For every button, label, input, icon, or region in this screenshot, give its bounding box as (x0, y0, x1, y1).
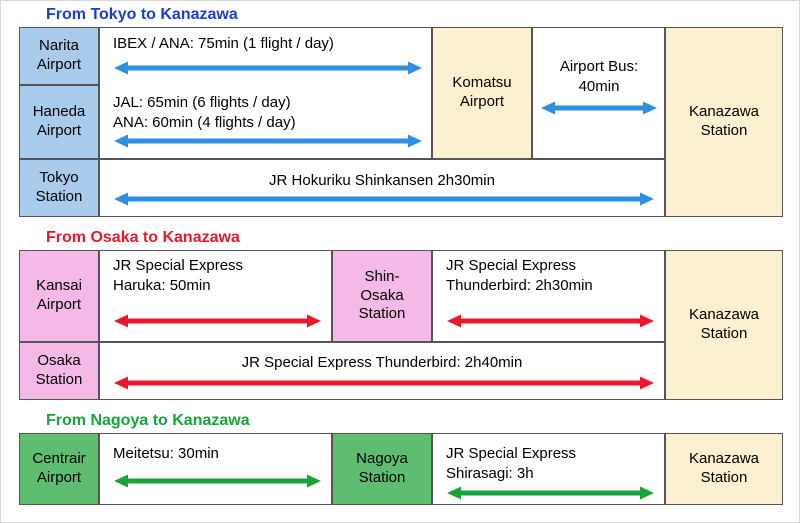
route-label-komatsu-kanazawa: Airport Bus: 40min (537, 57, 661, 96)
arrow-osaka-kanazawa (114, 376, 654, 390)
arrow-narita-komatsu (114, 61, 422, 75)
arrow-kansai-shinosaka (114, 314, 321, 328)
arrow-nagoya-kanazawa (447, 486, 654, 500)
arrow-tokyo-kanazawa (114, 192, 654, 206)
arrow-shinosaka-kanazawa (447, 314, 654, 328)
transport-access-diagram: From Tokyo to Kanazawa Narita Airport Ha… (0, 0, 800, 523)
node-tokyo-station: Tokyo Station (19, 159, 99, 217)
route-label-centrair-nagoya: Meitetsu: 30min (113, 444, 328, 464)
node-kansai-airport: Kansai Airport (19, 250, 99, 342)
section-title-osaka: From Osaka to Kanazawa (46, 229, 240, 247)
route-label-shinosaka-kanazawa: JR Special Express Thunderbird: 2h30min (446, 256, 661, 295)
route-label-osaka-kanazawa: JR Special Express Thunderbird: 2h40min (105, 353, 659, 373)
arrow-centrair-nagoya (114, 474, 321, 488)
node-narita-airport: Narita Airport (19, 27, 99, 85)
node-kanazawa-station-osaka: Kanazawa Station (665, 250, 783, 400)
node-kanazawa-station-nagoya: Kanazawa Station (665, 433, 783, 505)
section-title-tokyo: From Tokyo to Kanazawa (46, 6, 238, 24)
route-label-kansai-shinosaka: JR Special Express Haruka: 50min (113, 256, 328, 295)
node-haneda-airport: Haneda Airport (19, 85, 99, 159)
arrow-komatsu-kanazawa (541, 101, 657, 115)
arrow-haneda-komatsu (114, 134, 422, 148)
route-label-nagoya-kanazawa: JR Special Express Shirasagi: 3h (446, 444, 661, 483)
section-title-nagoya: From Nagoya to Kanazawa (46, 412, 250, 430)
route-label-narita-komatsu: IBEX / ANA: 75min (1 flight / day) (113, 34, 428, 54)
route-label-tokyo-kanazawa: JR Hokuriku Shinkansen 2h30min (105, 171, 659, 191)
node-osaka-station: Osaka Station (19, 342, 99, 400)
route-label-haneda-komatsu: JAL: 65min (6 flights / day) ANA: 60min … (113, 93, 428, 132)
node-shin-osaka-station: Shin- Osaka Station (332, 250, 432, 342)
node-nagoya-station: Nagoya Station (332, 433, 432, 505)
node-komatsu-airport: Komatsu Airport (432, 27, 532, 159)
node-centrair-airport: Centrair Airport (19, 433, 99, 505)
node-kanazawa-station-tokyo: Kanazawa Station (665, 27, 783, 217)
